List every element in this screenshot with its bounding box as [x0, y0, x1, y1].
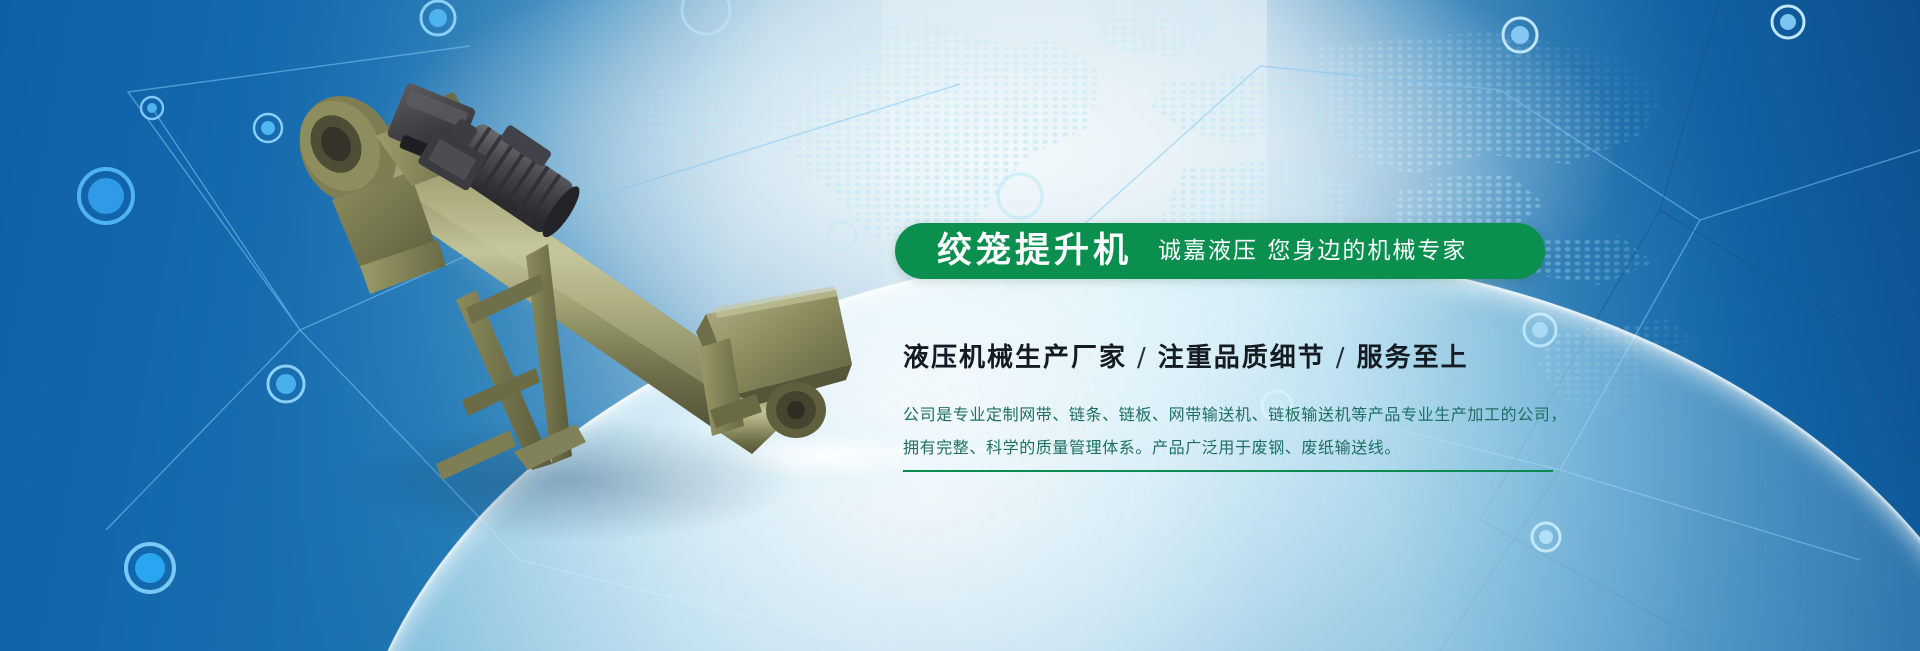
product-image-screw-conveyor [240, 50, 880, 570]
company-slogan: 诚嘉液压 您身边的机械专家 [1158, 240, 1467, 263]
product-title: 绞笼提升机 [937, 234, 1132, 269]
tagline: 液压机械生产厂家/注重品质细节/服务至上 [903, 337, 1469, 374]
tagline-part-3: 服务至上 [1357, 343, 1469, 373]
description-line-2: 拥有完整、科学的质量管理体系。产品广泛用于废钢、废纸输送线。 [903, 431, 1565, 464]
tagline-part-2: 注重品质细节 [1158, 343, 1326, 373]
tagline-part-1: 液压机械生产厂家 [903, 343, 1127, 373]
company-description: 公司是专业定制网带、链条、链板、网带输送机、链板输送机等产品专业生产加工的公司，… [903, 398, 1565, 464]
description-line-1: 公司是专业定制网带、链条、链板、网带输送机、链板输送机等产品专业生产加工的公司， [903, 398, 1565, 431]
tagline-separator-1: / [1127, 343, 1158, 373]
green-divider-line [903, 470, 1553, 472]
tagline-separator-2: / [1326, 343, 1357, 373]
hero-banner: 绞笼提升机 诚嘉液压 您身边的机械专家 液压机械生产厂家/注重品质细节/服务至上… [0, 0, 1920, 651]
banner-content: 绞笼提升机 诚嘉液压 您身边的机械专家 液压机械生产厂家/注重品质细节/服务至上… [895, 0, 1575, 651]
product-title-pill: 绞笼提升机 诚嘉液压 您身边的机械专家 [895, 223, 1545, 279]
